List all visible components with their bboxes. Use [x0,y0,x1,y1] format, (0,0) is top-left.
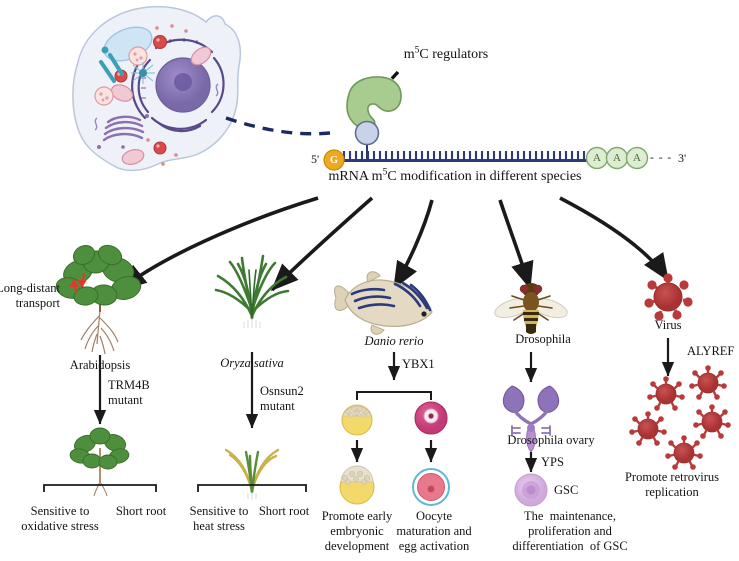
zebrafish-icon [335,272,433,335]
drosophila-species-label: Drosophila [515,332,571,347]
danio-outcome-1: Promote early embryonic development [322,509,392,554]
polya-letter-1: A [593,151,601,166]
m5c-regulators-label: m5C regulators [404,47,488,62]
danio-regulator-label: YBX1 [402,357,435,372]
virus-regulator-label: ALYREF [687,344,734,359]
three-prime-label: 3' [678,151,686,166]
drosophila-organ-label: Drosophila ovary [507,433,594,448]
polya-letter-2: A [613,151,621,166]
danio-split-bracket [357,392,431,400]
oocyte-icon-mature [413,469,449,505]
virus-cluster-icon [629,365,731,470]
rice-mutant-plant-icon [226,450,278,500]
figure-caption: mRNA m5C modification in different speci… [329,169,582,184]
cell-to-regulator-connector [226,118,330,134]
polya-letter-3: A [633,151,641,166]
virus-outcome-1: Promote retrovirus replication [625,470,719,500]
oryza-outcome-2: Short root [259,504,309,519]
oryza-mutant-label: Osnsun2 mutant [260,384,304,414]
arabidopsis-outcome-1: Sensitive to oxidative stress [21,504,98,534]
arabidopsis-outcome-2: Short root [116,504,166,519]
danio-outcome-2: Oocyte maturation and egg activation [396,509,471,554]
rna-cap-letter: G [330,153,338,168]
embryo-icon-late [340,466,374,504]
drosophila-outcome-1: The maintenance, proliferation and diffe… [512,509,627,554]
polya-dashes: - - - [650,151,672,166]
enzyme-protein-icon [347,77,401,129]
eukaryotic-cell-icon [73,7,240,171]
five-prime-label: 5' [311,152,319,167]
gsc-cell-icon [515,474,547,506]
arabidopsis-species-label: Arabidopsis [70,358,130,373]
species-arrows [120,198,668,290]
oryza-species-label: Oryza sativa [220,356,284,371]
long-distant-transport-label: Long-distant transport [0,281,60,311]
virus-particle-icon [644,273,692,320]
gsc-label: GSC [554,483,578,498]
arabidopsis-plant-icon [54,242,144,354]
oryza-outcome-1: Sensitive to heat stress [190,504,249,534]
danio-species-label: Danio rerio [365,334,424,349]
rice-plant-icon [216,256,288,328]
virus-species-label: Virus [654,318,681,333]
arabidopsis-mutant-label: TRM4B mutant [108,378,150,408]
embryo-icon-early [342,405,372,435]
oocyte-icon-immature [415,402,447,434]
arabidopsis-outcome-bracket [44,485,156,492]
drosophila-fly-icon [492,283,569,334]
figure-canvas: m5C regulators 5' - - - 3' G A A A mRNA … [0,0,739,561]
drosophila-regulator-label: YPS [541,455,564,470]
